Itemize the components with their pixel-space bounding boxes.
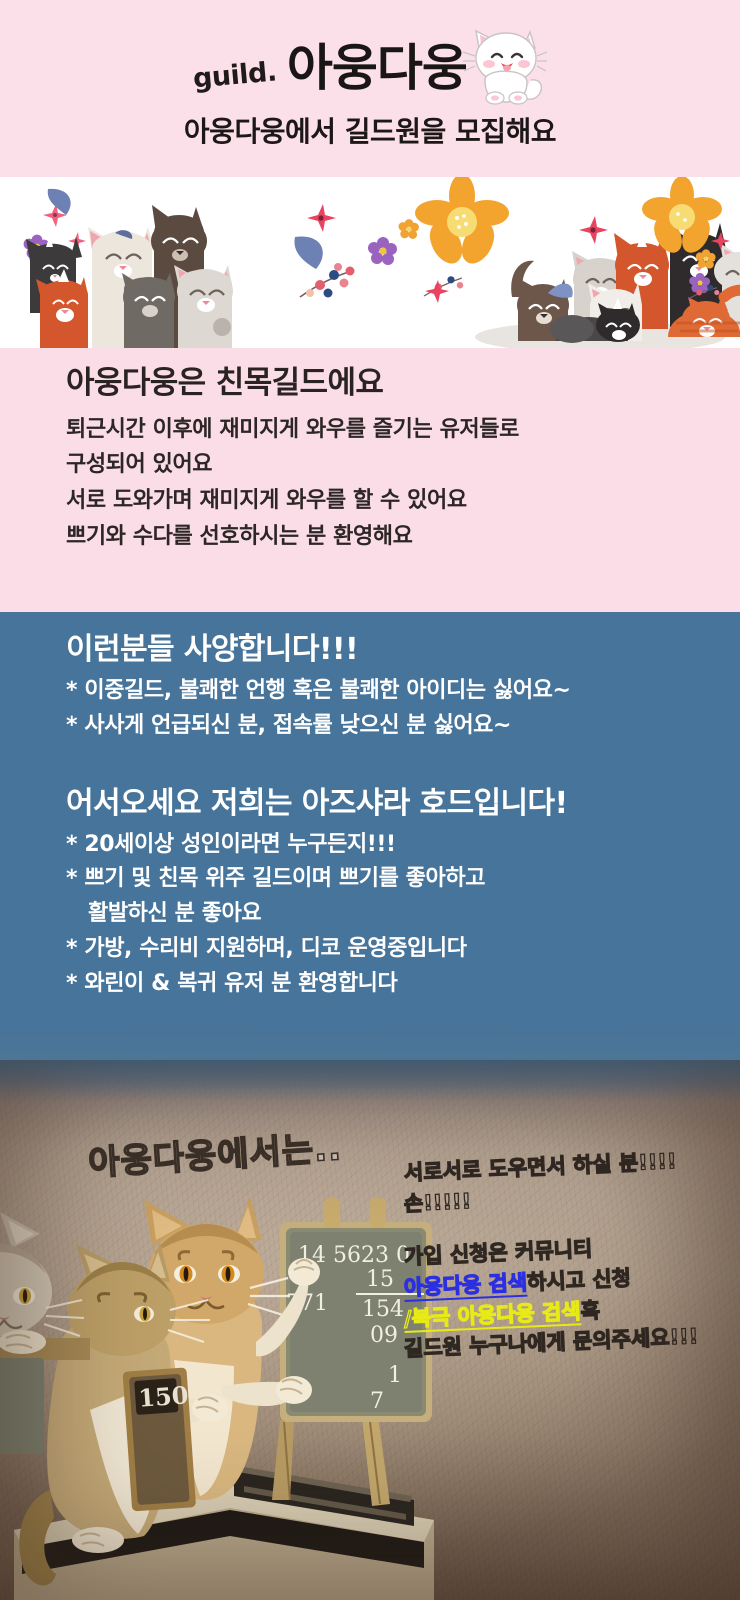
white-cat-mascot-icon <box>461 28 547 110</box>
header-title-row: guild. 아웅다웅 <box>0 28 740 106</box>
intro-content: 아웅다웅은 친목길드에요 퇴근시간 이후에 재미지게 와우를 즐기는 유저들로 … <box>66 366 720 554</box>
reject-item-1: * 이중길드, 불쾌한 언행 혹은 불쾌한 아이디는 싫어요~ <box>66 674 722 709</box>
header-subtitle: 아웅다웅에서 길드원을 모집해요 <box>0 110 740 150</box>
welcome-heading: 어서오세요 저희는 아즈샤라 호드입니다! <box>66 786 722 822</box>
welcome-item-4: * 와린이 & 복귀 유저 분 환영합니다 <box>66 967 722 1002</box>
header-banner: guild. 아웅다웅 <box>0 0 740 177</box>
intro-line-4: 쁘기와 수다를 선호하시는 분 환영해요 <box>66 519 720 555</box>
guild-recruitment-poster: guild. 아웅다웅 <box>0 0 740 1600</box>
intro-line-3: 서로 도와가며 재미지게 와우를 할 수 있어요 <box>66 483 720 519</box>
reject-item-2: * 사사게 언급되신 분, 접속률 낮으신 분 싫어요~ <box>66 709 722 744</box>
guild-label: guild. <box>192 56 278 94</box>
intro-heading: 아웅다웅은 친목길드에요 <box>66 366 720 402</box>
intro-line-1: 퇴근시간 이후에 재미지게 와우를 즐기는 유저들로 <box>66 412 720 448</box>
welcome-item-1: * 20세이상 성인이라면 누구든지!!! <box>66 828 722 863</box>
welcome-item-2: * 쁘기 및 친목 위주 길드이며 쁘기를 좋아하고 <box>66 862 722 897</box>
intro-line-2: 구성되어 있어요 <box>66 447 720 483</box>
guild-name: 아웅다웅 <box>287 43 467 93</box>
welcome-item-2-cont: 활발하신 분 좋아요 <box>66 897 722 932</box>
welcome-item-3: * 가방, 수리비 지원하며, 디코 운영중입니다 <box>66 932 722 967</box>
requirements-section: 이런분들 사양합니다!!! * 이중길드, 불쾌한 언행 혹은 불쾌한 아이디는… <box>0 612 740 1112</box>
requirements-content: 이런분들 사양합니다!!! * 이중길드, 불쾌한 언행 혹은 불쾌한 아이디는… <box>66 632 722 1001</box>
reject-heading: 이런분들 사양합니다!!! <box>66 632 722 668</box>
contact-section: 14 5623 0 15 771 154 09 1 7 <box>0 1060 740 1600</box>
cats-and-flowers-banner <box>0 177 740 348</box>
intro-section: 아웅다웅은 친목길드에요 퇴근시간 이후에 재미지게 와우를 즐기는 유저들로 … <box>0 348 740 612</box>
vignette-overlay <box>0 1060 740 1600</box>
